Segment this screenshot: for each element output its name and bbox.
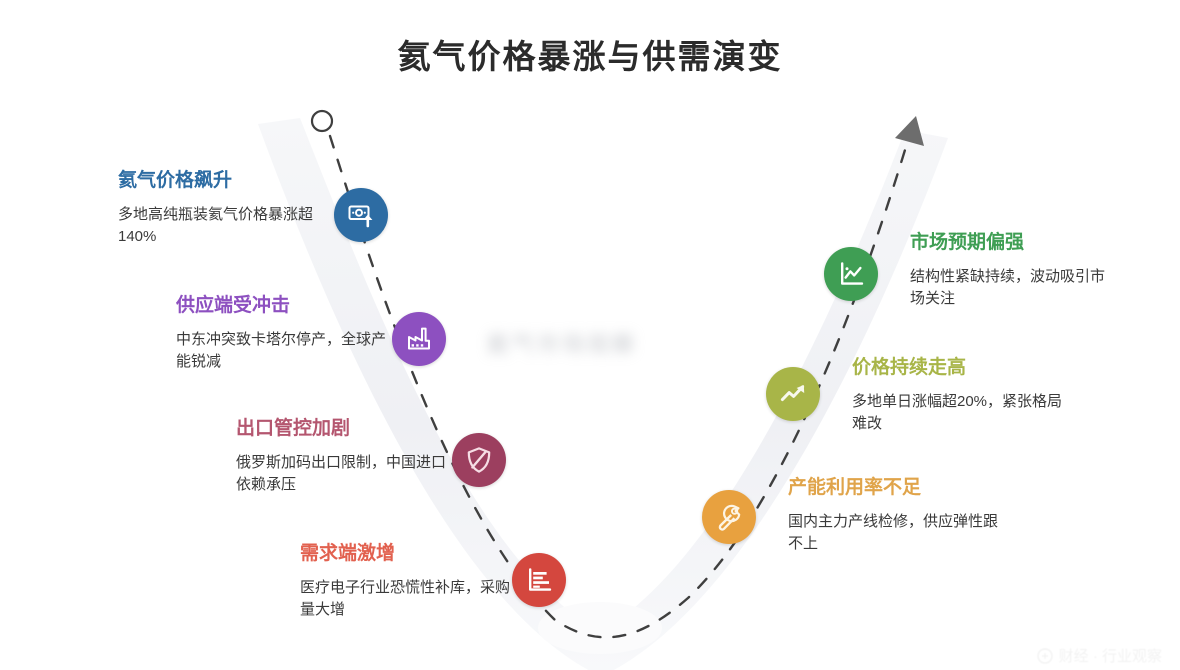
node-price-surge[interactable] — [334, 188, 388, 242]
center-watermark: 氦气市场观察 — [487, 327, 692, 357]
line-chart-icon — [836, 259, 866, 289]
item-demand-surge: 需求端激增 医疗电子行业恐慌性补库，采购量大增 — [300, 543, 515, 622]
path-start-marker — [312, 111, 332, 131]
item-price-surge: 氦气价格飙升 多地高纯瓶装氦气价格暴涨超140% — [118, 170, 333, 249]
node-demand-surge[interactable] — [512, 553, 566, 607]
shield-ban-icon — [464, 445, 494, 475]
item-supply-shock: 供应端受冲击 中东冲突致卡塔尔停产，全球产能锐减 — [176, 295, 391, 374]
item-market-expectation: 市场预期偏强 结构性紧缺持续，波动吸引市场关注 — [910, 232, 1115, 311]
node-supply-shock[interactable] — [392, 312, 446, 366]
factory-icon — [404, 324, 434, 354]
item-description: 多地单日涨幅超20%，紧张格局难改 — [852, 391, 1070, 436]
item-title: 出口管控加剧 — [236, 418, 451, 441]
banknote-up-icon — [346, 200, 376, 230]
path-end-arrowhead — [895, 116, 924, 146]
item-title: 产能利用率不足 — [788, 477, 1008, 500]
item-description: 多地高纯瓶装氦气价格暴涨超140% — [118, 204, 333, 249]
item-capacity-utilisation: 产能利用率不足 国内主力产线检修，供应弹性跟不上 — [788, 477, 1008, 556]
bar-chart-icon — [524, 565, 554, 595]
item-description: 医疗电子行业恐慌性补库，采购量大增 — [300, 577, 515, 622]
item-price-uptrend: 价格持续走高 多地单日涨幅超20%，紧张格局难改 — [852, 357, 1070, 436]
item-title: 价格持续走高 — [852, 357, 1070, 380]
trending-up-icon — [778, 379, 808, 409]
item-description: 中东冲突致卡塔尔停产，全球产能锐减 — [176, 329, 391, 374]
corner-watermark: 财经 · 行业观察 — [1037, 645, 1162, 666]
node-capacity-utilisation[interactable] — [702, 490, 756, 544]
item-title: 需求端激增 — [300, 543, 515, 566]
item-title: 市场预期偏强 — [910, 232, 1115, 255]
corner-watermark-text: 财经 · 行业观察 — [1059, 645, 1162, 666]
node-export-controls[interactable] — [452, 433, 506, 487]
item-title: 氦气价格飙升 — [118, 170, 333, 193]
item-description: 俄罗斯加码出口限制，中国进口依赖承压 — [236, 452, 451, 497]
item-description: 国内主力产线检修，供应弹性跟不上 — [788, 511, 1008, 556]
node-price-uptrend[interactable] — [766, 367, 820, 421]
item-export-controls: 出口管控加剧 俄罗斯加码出口限制，中国进口依赖承压 — [236, 418, 451, 497]
infographic-canvas: 氦气价格暴涨与供需演变 氦气市场观察 — [0, 0, 1180, 670]
node-market-expectation[interactable] — [824, 247, 878, 301]
item-title: 供应端受冲击 — [176, 295, 391, 318]
badge-icon — [1037, 648, 1053, 664]
wrench-icon — [714, 502, 744, 532]
item-description: 结构性紧缺持续，波动吸引市场关注 — [910, 266, 1115, 311]
